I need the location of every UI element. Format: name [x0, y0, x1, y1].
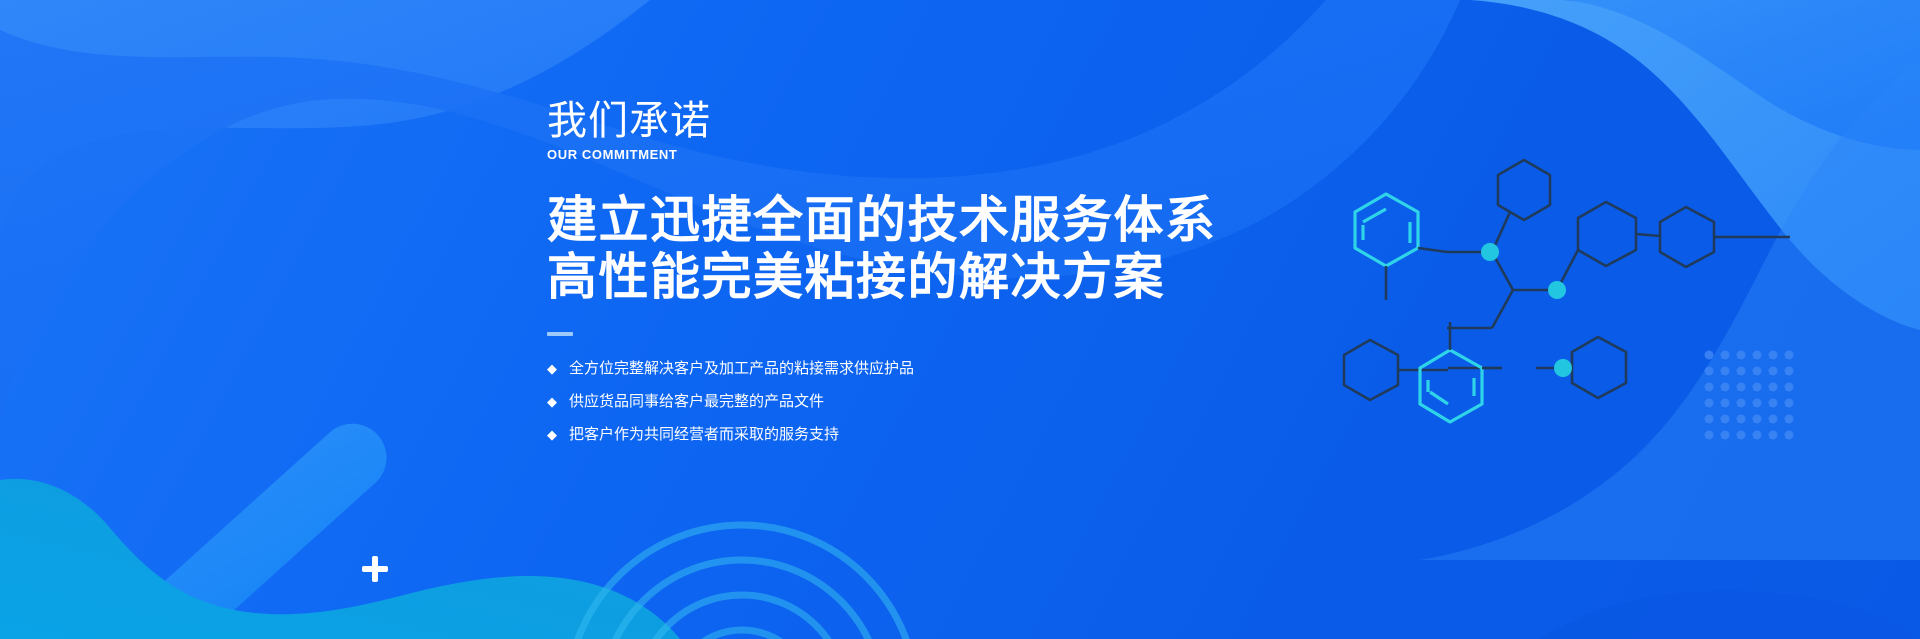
diamond-bullet-icon: ◆: [547, 360, 557, 377]
list-item: ◆ 供应货品同事给客户最完整的产品文件: [547, 393, 1267, 410]
wave-top-right-deep: [1560, 0, 1920, 150]
wave-top-right-light: [1470, 0, 1920, 330]
plus-icon: [362, 556, 388, 582]
headline-line-2: 高性能完美粘接的解决方案: [547, 249, 1267, 306]
eyebrow-title-en: OUR COMMITMENT: [547, 146, 1267, 164]
banner-content: 我们承诺 OUR COMMITMENT 建立迅捷全面的技术服务体系 高性能完美粘…: [547, 98, 1267, 443]
wave-bottom-right: [1540, 591, 1920, 639]
list-item-label: 全方位完整解决客户及加工产品的粘接需求供应护品: [569, 360, 914, 377]
diamond-bullet-icon: ◆: [547, 393, 557, 410]
headline-block: 建立迅捷全面的技术服务体系 高性能完美粘接的解决方案: [547, 192, 1267, 306]
eyebrow-title-cn: 我们承诺: [547, 98, 1267, 144]
commitment-list: ◆ 全方位完整解决客户及加工产品的粘接需求供应护品 ◆ 供应货品同事给客户最完整…: [547, 360, 1267, 443]
divider-dash: [547, 332, 573, 336]
diagonal-rounded-bar: [139, 410, 400, 639]
molecule-node-dots: [1481, 243, 1572, 377]
headline-line-1: 建立迅捷全面的技术服务体系: [547, 192, 1267, 249]
wave-top-cyan: [0, 0, 560, 87]
promo-banner: 我们承诺 OUR COMMITMENT 建立迅捷全面的技术服务体系 高性能完美粘…: [0, 0, 1920, 639]
list-item: ◆ 把客户作为共同经营者而采取的服务支持: [547, 426, 1267, 443]
list-item: ◆ 全方位完整解决客户及加工产品的粘接需求供应护品: [547, 360, 1267, 377]
list-item-label: 把客户作为共同经营者而采取的服务支持: [569, 426, 839, 443]
wave-right-edge: [1420, 60, 1920, 560]
list-item-label: 供应货品同事给客户最完整的产品文件: [569, 393, 824, 410]
plus-icon-bar-vertical: [372, 556, 378, 582]
wave-bottom-cyan: [0, 479, 680, 639]
diamond-bullet-icon: ◆: [547, 426, 557, 443]
